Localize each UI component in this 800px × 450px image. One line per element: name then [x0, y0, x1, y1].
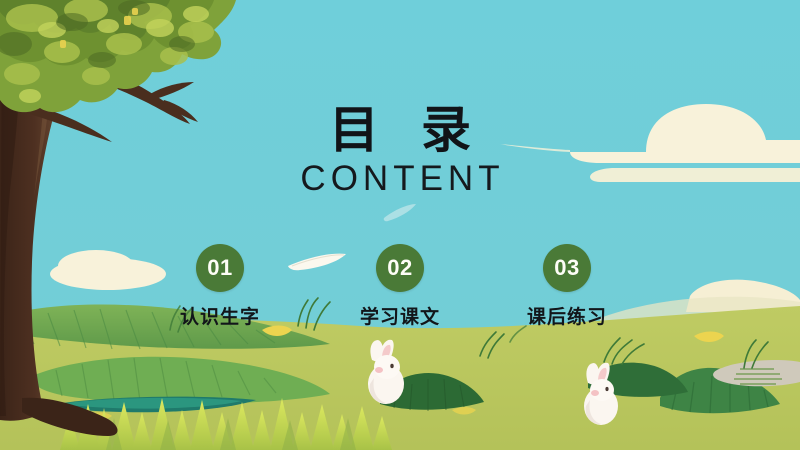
- feather-layer: [0, 0, 800, 450]
- content-label-01: 认识生字: [140, 302, 300, 329]
- content-label-03: 课后练习: [487, 302, 647, 329]
- content-item-03[interactable]: 03 课后练习: [487, 244, 647, 329]
- badge-01[interactable]: 01: [196, 244, 244, 292]
- content-label-02: 学习课文: [320, 302, 480, 329]
- badge-number-03: 03: [554, 255, 579, 281]
- contents-list: 01 认识生字 02 学习课文 03 课后练习: [0, 244, 800, 339]
- badge-number-01: 01: [207, 255, 232, 281]
- presentation-slide: 目 录 CONTENT 01 认识生字 02 学习课文 03 课后练习: [0, 0, 800, 450]
- badge-number-02: 02: [387, 255, 412, 281]
- feather-icon-small: [384, 204, 416, 221]
- title-block: 目 录 CONTENT: [0, 104, 800, 199]
- content-item-01[interactable]: 01 认识生字: [140, 244, 300, 329]
- content-item-02[interactable]: 02 学习课文: [320, 244, 480, 329]
- badge-02[interactable]: 02: [376, 244, 424, 292]
- badge-03[interactable]: 03: [543, 244, 591, 292]
- page-title-en: CONTENT: [0, 159, 800, 199]
- page-title-cn: 目 录: [0, 104, 800, 157]
